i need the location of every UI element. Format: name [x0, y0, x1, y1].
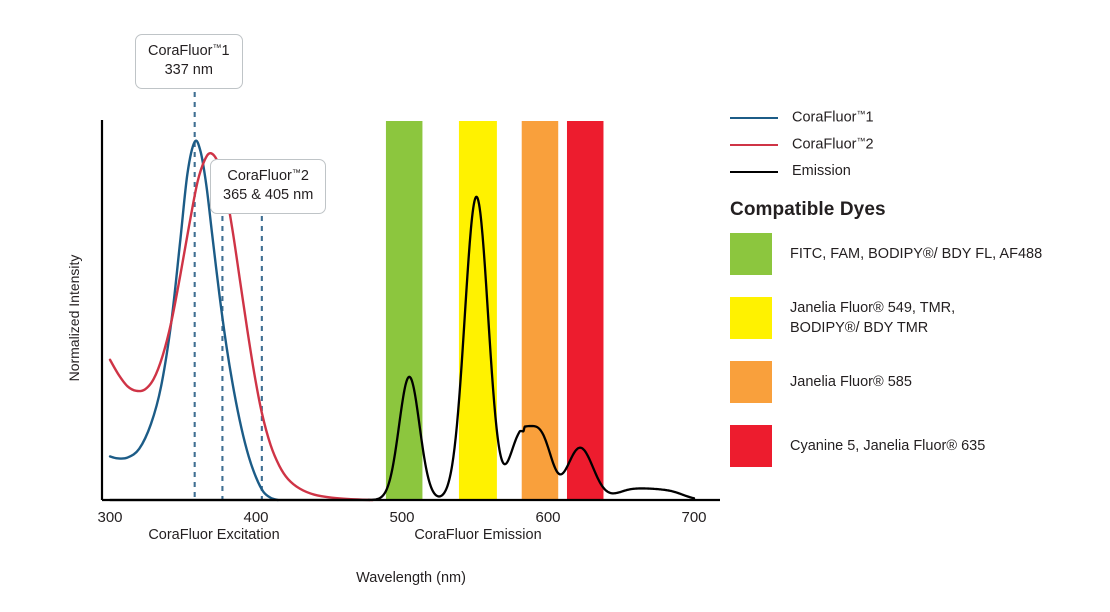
callout2-num: 2 — [301, 168, 309, 184]
legend-label-0: CoraFluor™1 — [792, 110, 874, 125]
dye-label-2: Janelia Fluor® 585 — [790, 372, 912, 392]
axis-tick-labels: 300400500600700 — [97, 509, 706, 526]
x-tick-600: 600 — [535, 509, 560, 526]
dye-label-line1-1: Janelia Fluor® 549, TMR, — [790, 298, 955, 318]
figure-root: 300400500600700 CoraFluor Excitation Cor… — [0, 0, 1110, 612]
x-tick-500: 500 — [389, 509, 414, 526]
legend-line-swatch-2 — [730, 171, 778, 173]
legend-item-1[interactable]: CoraFluor™2 — [730, 131, 1102, 158]
dye-row-1[interactable]: Janelia Fluor® 549, TMR,BODIPY®/ BDY TMR — [730, 297, 1106, 339]
compatible-dyes-title: Compatible Dyes — [730, 199, 886, 221]
callout2-line1-text: CoraFluor — [227, 168, 291, 184]
excitation-marker-lines — [195, 92, 262, 500]
axis-section-emission: CoraFluor Emission — [414, 527, 541, 543]
legend-label-text-0: CoraFluor — [792, 110, 856, 126]
callout1-line2: 337 nm — [148, 61, 230, 80]
dye-label-0: FITC, FAM, BODIPY®/ BDY FL, AF488 — [790, 244, 1042, 264]
dye-color-swatch-3 — [730, 425, 772, 467]
compatible-dyes-legend: FITC, FAM, BODIPY®/ BDY FL, AF488Janelia… — [730, 233, 1106, 489]
callout1-num: 1 — [221, 43, 229, 59]
x-tick-400: 400 — [243, 509, 268, 526]
orange-band — [522, 121, 559, 500]
dye-label-line1-2: Janelia Fluor® 585 — [790, 372, 912, 392]
legend-num-1: 2 — [865, 137, 873, 153]
legend-label-text-2: Emission — [792, 163, 851, 179]
dye-row-3[interactable]: Cyanine 5, Janelia Fluor® 635 — [730, 425, 1106, 467]
dye-color-swatch-0 — [730, 233, 772, 275]
legend-item-0[interactable]: CoraFluor™1 — [730, 104, 1102, 131]
spectra-chart: 300400500600700 CoraFluor Excitation Cor… — [0, 0, 740, 612]
axis-section-excitation: CoraFluor Excitation — [148, 527, 279, 543]
dye-color-swatch-1 — [730, 297, 772, 339]
dye-row-2[interactable]: Janelia Fluor® 585 — [730, 361, 1106, 403]
legend-num-0: 1 — [865, 110, 873, 126]
dye-row-0[interactable]: FITC, FAM, BODIPY®/ BDY FL, AF488 — [730, 233, 1106, 275]
dye-label-line2-1: BODIPY®/ BDY TMR — [790, 318, 955, 338]
callout1-line1-text: CoraFluor — [148, 43, 212, 59]
dye-label-3: Cyanine 5, Janelia Fluor® 635 — [790, 436, 985, 456]
callout-corafluor1: CoraFluor™1 337 nm — [135, 34, 243, 89]
x-axis-title: Wavelength (nm) — [356, 570, 466, 586]
green-band — [386, 121, 423, 500]
legend-item-2[interactable]: Emission — [730, 158, 1102, 185]
red-band — [567, 121, 604, 500]
dye-label-1: Janelia Fluor® 549, TMR,BODIPY®/ BDY TMR — [790, 298, 955, 338]
series-legend: CoraFluor™1CoraFluor™2Emission — [730, 104, 1102, 185]
legend-line-swatch-0 — [730, 117, 778, 119]
dye-label-line1-0: FITC, FAM, BODIPY®/ BDY FL, AF488 — [790, 244, 1042, 264]
callout-corafluor2: CoraFluor™2 365 & 405 nm — [210, 159, 326, 214]
legend-line-swatch-1 — [730, 144, 778, 146]
y-axis-title: Normalized Intensity — [66, 255, 82, 382]
legend-label-text-1: CoraFluor — [792, 137, 856, 153]
plot-svg: 300400500600700 CoraFluor Excitation Cor… — [0, 0, 740, 612]
dye-color-swatch-2 — [730, 361, 772, 403]
legend-label-2: Emission — [792, 164, 851, 179]
x-tick-300: 300 — [97, 509, 122, 526]
emission-filter-bands — [386, 121, 604, 500]
callout2-line2: 365 & 405 nm — [223, 186, 313, 205]
dye-label-line1-3: Cyanine 5, Janelia Fluor® 635 — [790, 436, 985, 456]
x-tick-700: 700 — [681, 509, 706, 526]
callout2-tm: ™ — [292, 167, 301, 177]
legend-label-1: CoraFluor™2 — [792, 137, 874, 152]
